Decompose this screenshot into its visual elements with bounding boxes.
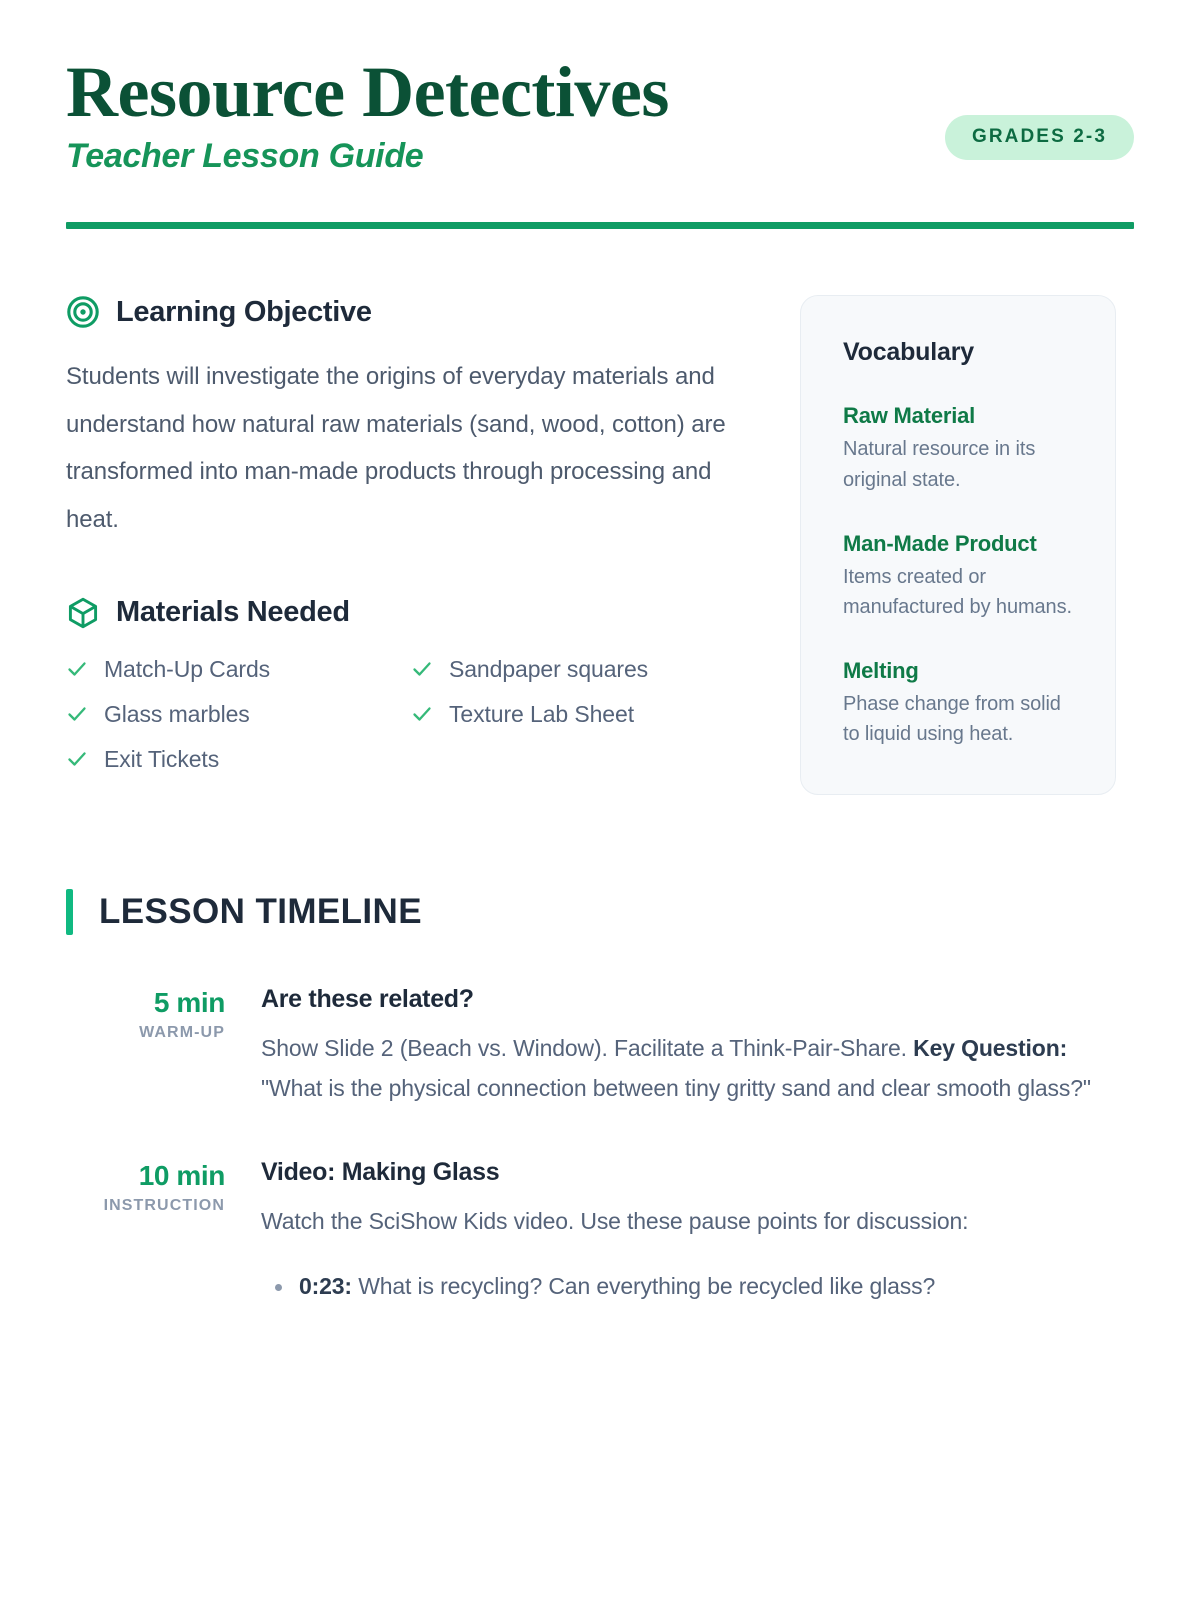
check-icon (411, 703, 433, 725)
vocabulary-title: Vocabulary (843, 338, 1081, 367)
pause-points-list: 0:23: What is recycling? Can everything … (261, 1268, 1134, 1306)
check-icon (411, 658, 433, 680)
header-divider (66, 222, 1134, 229)
vocabulary-card: Vocabulary Raw Material Natural resource… (800, 295, 1116, 794)
timeline-body: Video: Making Glass Watch the SciShow Ki… (261, 1156, 1134, 1306)
material-label: Match-Up Cards (104, 656, 270, 683)
vocabulary-term: Raw Material (843, 401, 1081, 431)
timeline-activity-description: Watch the SciShow Kids video. Use these … (261, 1202, 1134, 1242)
main-content: Learning Objective Students will investi… (66, 295, 1134, 794)
target-icon (66, 295, 100, 329)
left-column: Learning Objective Students will investi… (66, 295, 766, 772)
material-label: Texture Lab Sheet (449, 701, 634, 728)
learning-objective-header: Learning Objective (66, 295, 766, 329)
pause-point-time: 0:23: (299, 1273, 352, 1299)
vocabulary-entry: Man-Made Product Items created or manufa… (843, 529, 1081, 622)
pause-point-item: 0:23: What is recycling? Can everything … (261, 1268, 1134, 1306)
grade-badge: GRADES 2-3 (945, 115, 1134, 160)
vocabulary-entry: Melting Phase change from solid to liqui… (843, 656, 1081, 749)
timeline-duration: 5 min (66, 987, 225, 1019)
vocabulary-term: Melting (843, 656, 1081, 686)
timeline-phase: WARM-UP (66, 1024, 225, 1042)
check-icon (66, 748, 88, 770)
timeline-accent-bar (66, 889, 73, 935)
vocabulary-definition: Items created or manufactured by humans. (843, 562, 1081, 623)
material-item: Match-Up Cards (66, 656, 411, 683)
timeline-activity-title: Video: Making Glass (261, 1158, 1134, 1187)
page-header: Resource Detectives Teacher Lesson Guide… (66, 0, 1134, 176)
timeline-phase: INSTRUCTION (66, 1197, 225, 1215)
lesson-timeline-header: LESSON TIMELINE (66, 889, 1134, 935)
material-item: Glass marbles (66, 701, 411, 728)
check-icon (66, 703, 88, 725)
materials-header: Materials Needed (66, 596, 766, 630)
timeline-time-col: 10 min INSTRUCTION (66, 1156, 261, 1306)
material-item: Texture Lab Sheet (411, 701, 766, 728)
lesson-timeline-section: LESSON TIMELINE 5 min WARM-UP Are these … (66, 889, 1134, 1306)
timeline-row: 5 min WARM-UP Are these related? Show Sl… (66, 983, 1134, 1109)
check-icon (66, 658, 88, 680)
material-label: Glass marbles (104, 701, 250, 728)
vocabulary-entry: Raw Material Natural resource in its ori… (843, 401, 1081, 494)
materials-list: Match-Up Cards Sandpaper squares Glass m… (66, 656, 766, 773)
timeline-body: Are these related? Show Slide 2 (Beach v… (261, 983, 1134, 1109)
learning-objective-title: Learning Objective (116, 296, 372, 329)
timeline-activity-description: Show Slide 2 (Beach vs. Window). Facilit… (261, 1029, 1134, 1109)
box-icon (66, 596, 100, 630)
right-column: Vocabulary Raw Material Natural resource… (800, 295, 1116, 794)
desc-key-question-label: Key Question: (913, 1035, 1067, 1061)
material-item: Exit Tickets (66, 746, 411, 773)
desc-part-after: "What is the physical connection between… (261, 1075, 1091, 1101)
timeline-row: 10 min INSTRUCTION Video: Making Glass W… (66, 1156, 1134, 1306)
learning-objective-text: Students will investigate the origins of… (66, 353, 766, 543)
vocabulary-definition: Phase change from solid to liquid using … (843, 689, 1081, 750)
vocabulary-term: Man-Made Product (843, 529, 1081, 559)
pause-point-text: What is recycling? Can everything be rec… (352, 1273, 935, 1299)
materials-title: Materials Needed (116, 596, 350, 629)
material-item: Sandpaper squares (411, 656, 766, 683)
timeline-time-col: 5 min WARM-UP (66, 983, 261, 1109)
timeline-activity-title: Are these related? (261, 985, 1134, 1014)
desc-part-before: Show Slide 2 (Beach vs. Window). Facilit… (261, 1035, 913, 1061)
material-label: Sandpaper squares (449, 656, 648, 683)
lesson-timeline-title: LESSON TIMELINE (99, 892, 422, 932)
lesson-guide-page: Resource Detectives Teacher Lesson Guide… (0, 0, 1200, 1600)
material-label: Exit Tickets (104, 746, 219, 773)
vocabulary-definition: Natural resource in its original state. (843, 434, 1081, 495)
timeline-duration: 10 min (66, 1160, 225, 1192)
